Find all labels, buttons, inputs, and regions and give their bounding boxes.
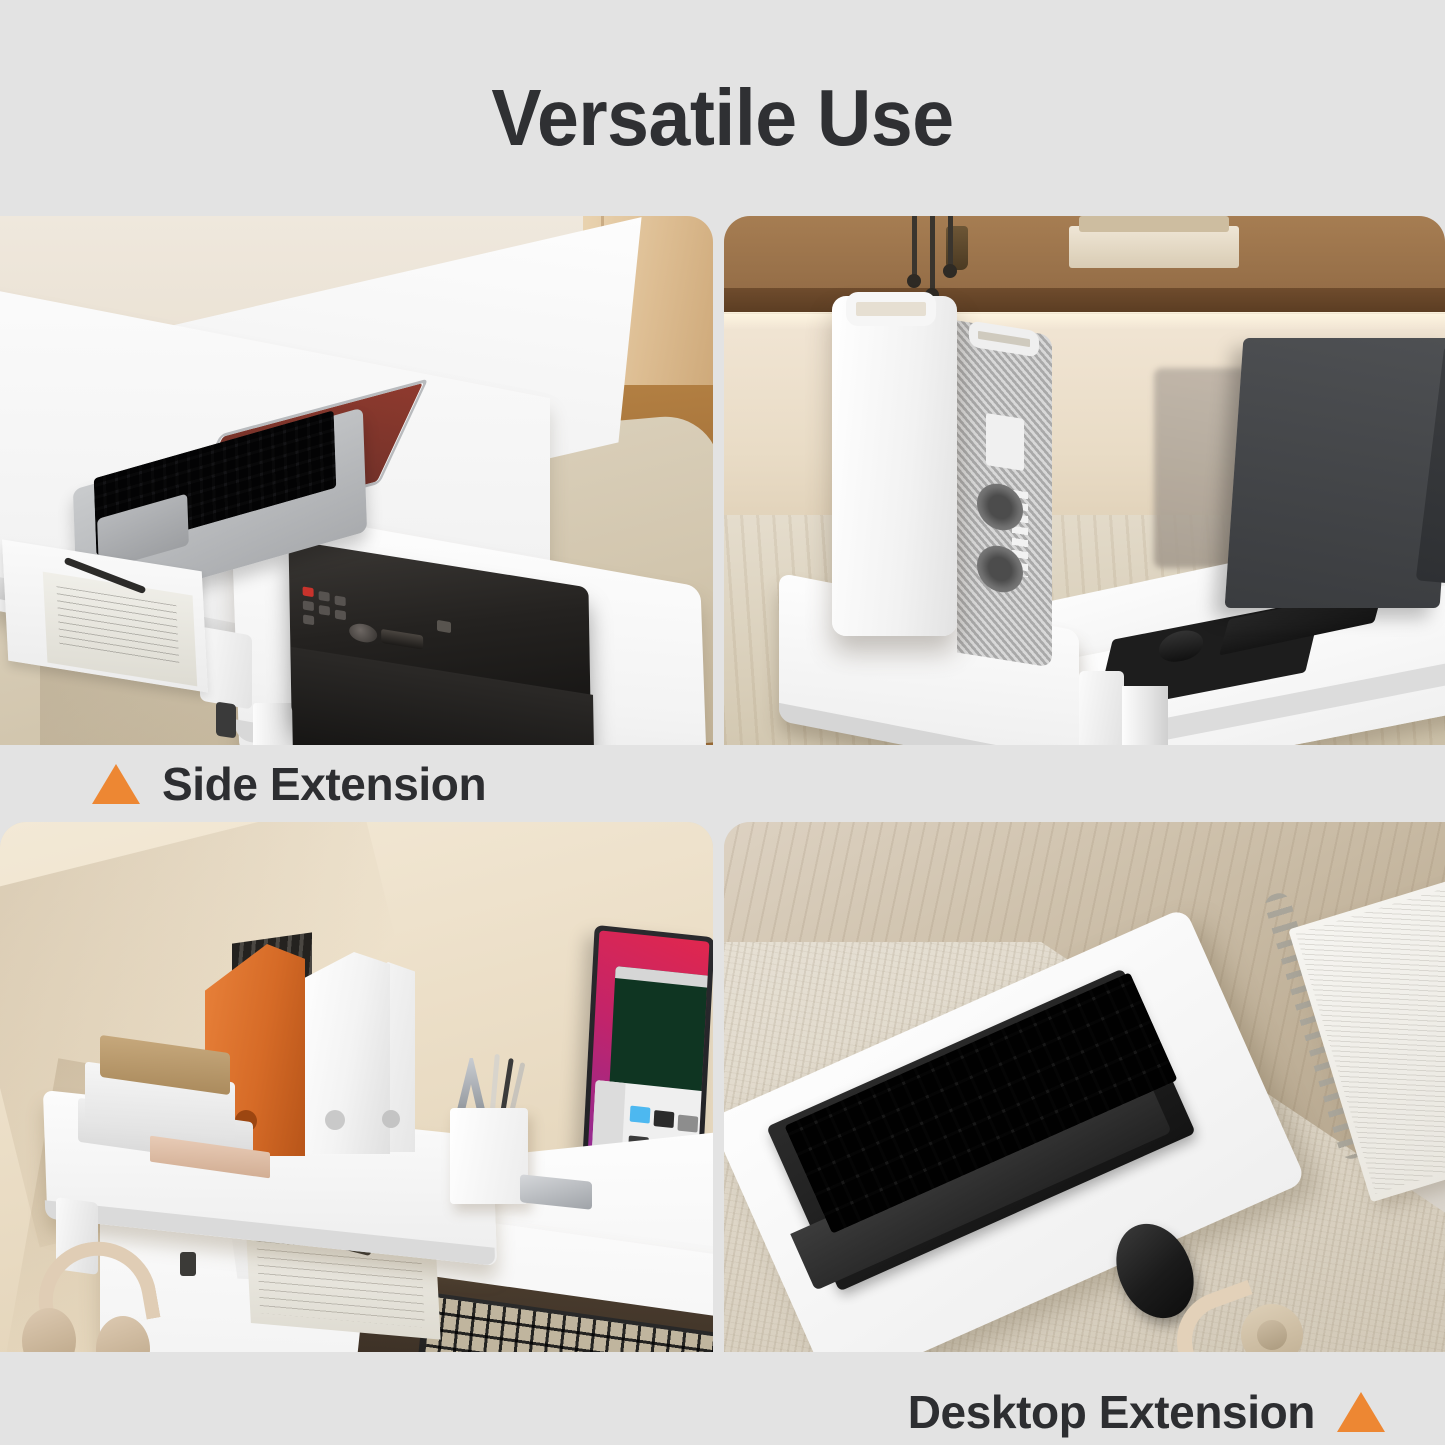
books-stack-top — [1079, 216, 1229, 232]
headphones — [1179, 1292, 1339, 1352]
printer-button — [303, 614, 314, 625]
panel-bottom-right — [724, 822, 1445, 1352]
desk-leg — [1122, 686, 1168, 745]
printer-dial — [349, 622, 377, 645]
pc-io-panel — [986, 413, 1024, 471]
printer-display — [381, 629, 423, 650]
tray-clamp — [1079, 671, 1124, 745]
headphones — [22, 1242, 172, 1352]
headphone-earcup-inner — [1257, 1320, 1287, 1350]
label-side-extension: Side Extension — [92, 752, 486, 816]
label-desktop-extension-text: Desktop Extension — [908, 1387, 1315, 1437]
printer-button — [319, 591, 330, 602]
pendant-cord — [930, 216, 935, 292]
magazine-file-white — [300, 952, 390, 1154]
desktop-extension-keyboard-tray-photo — [724, 822, 1445, 1352]
printer-button — [335, 595, 346, 606]
pendant-ball — [907, 274, 921, 288]
pendant-ball — [943, 264, 957, 278]
magazine-file-hole — [382, 1110, 400, 1128]
magazine-file-hole — [325, 1110, 345, 1130]
poster-root: Versatile Use — [0, 0, 1445, 1445]
triangle-up-icon — [92, 764, 140, 804]
pc-tower-handle — [846, 292, 936, 326]
file-thumbnail — [630, 1106, 651, 1124]
pendant-cord — [948, 216, 953, 268]
panel-bottom-left — [0, 822, 713, 1352]
pendant-cord — [912, 216, 917, 278]
printer-power-button — [303, 586, 314, 597]
pen-cup — [450, 1108, 528, 1204]
printer-button — [303, 600, 314, 611]
printer-button — [319, 605, 330, 616]
side-extension-desk-organizer-photo — [0, 822, 713, 1352]
books-stack — [1069, 226, 1239, 268]
page-title: Versatile Use — [43, 72, 1401, 164]
label-side-extension-text: Side Extension — [162, 759, 486, 809]
side-extension-pc-tower-photo — [724, 216, 1445, 745]
monitor-primary — [1225, 338, 1445, 608]
clamp-knob — [216, 702, 236, 739]
panel-top-left — [0, 216, 713, 745]
panel-top-right — [724, 216, 1445, 745]
file-thumbnail — [677, 1115, 698, 1133]
pc-tower-body — [832, 296, 957, 636]
tray-clamp — [200, 626, 252, 709]
label-desktop-extension: Desktop Extension — [908, 1380, 1385, 1444]
printer-button — [335, 610, 346, 621]
clamp-knob — [180, 1252, 196, 1276]
triangle-up-icon — [1337, 1392, 1385, 1432]
file-thumbnail — [654, 1110, 675, 1128]
side-extension-printer-photo — [0, 216, 713, 745]
printer-logo — [437, 620, 451, 633]
